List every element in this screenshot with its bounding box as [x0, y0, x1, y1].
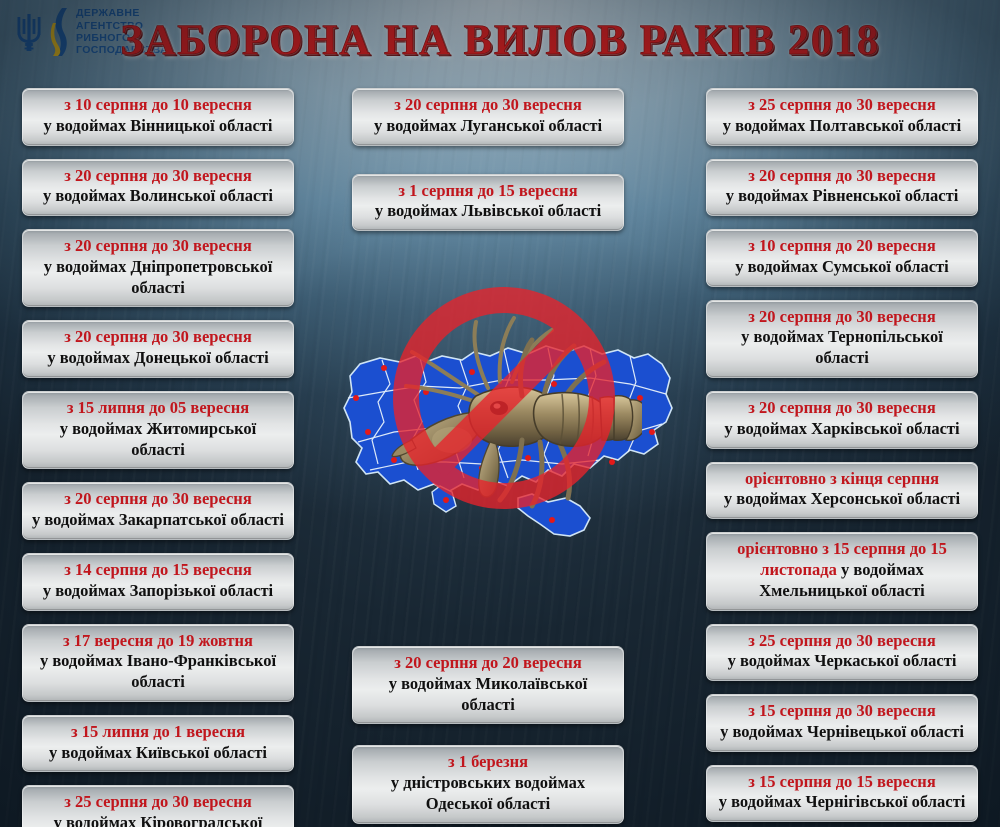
card-dates: з 20 серпня до 20 вересня — [361, 653, 615, 674]
card-dates: з 15 серпня до 30 вересня — [715, 701, 969, 722]
card-place: у водоймах Херсонської області — [715, 489, 969, 510]
region-card: з 20 серпня до 30 вересняу водоймах Рівн… — [706, 159, 978, 217]
card-place: у водоймах Львівської області — [361, 201, 615, 222]
region-card: орієнтовно з кінця серпняу водоймах Херс… — [706, 462, 978, 520]
column-right: з 25 серпня до 30 вересняу водоймах Полт… — [706, 88, 978, 822]
card-dates: з 10 серпня до 20 вересня — [715, 236, 969, 257]
card-place: у водоймах Черкаської області — [715, 651, 969, 672]
card-place: у водоймах Закарпатської області — [31, 510, 285, 531]
card-dates: з 14 серпня до 15 вересня — [31, 560, 285, 581]
card-dates: з 20 серпня до 30 вересня — [31, 166, 285, 187]
card-dates: з 20 серпня до 30 вересня — [715, 166, 969, 187]
region-card: з 15 липня до 05 вересняу водоймах Житом… — [22, 391, 294, 469]
card-dates: з 20 серпня до 30 вересня — [31, 236, 285, 257]
region-card: з 25 серпня до 30 вересняу водоймах Черк… — [706, 624, 978, 682]
region-card: з 10 серпня до 10 вересняу водоймах Вінн… — [22, 88, 294, 146]
card-place: у водоймах Миколаївської області — [361, 674, 615, 716]
infographic-poster: ДЕРЖАВНЕ АГЕНТСТВО РИБНОГО ГОСПОДАРСТВА … — [0, 0, 1000, 827]
card-dates: орієнтовно з кінця серпня — [715, 469, 969, 490]
region-card: з 25 серпня до 30 вересняу водоймах Кіро… — [22, 785, 294, 827]
region-card: з 20 серпня до 30 вересняу водоймах Дніп… — [22, 229, 294, 307]
card-dates: з 1 березня — [361, 752, 615, 773]
card-place: у водоймах Чернівецької області — [715, 722, 969, 743]
card-place: у водоймах Сумської області — [715, 257, 969, 278]
region-card: з 20 серпня до 20 вересняу водоймах Мико… — [352, 646, 624, 724]
region-card: з 25 серпня до 30 вересняу водоймах Полт… — [706, 88, 978, 146]
card-place: у водоймах Київської області — [31, 743, 285, 764]
card-dates: з 25 серпня до 30 вересня — [715, 631, 969, 652]
card-place: у водоймах Рівненської області — [715, 186, 969, 207]
card-place: у водоймах Донецької області — [31, 348, 285, 369]
poster-header: ДЕРЖАВНЕ АГЕНТСТВО РИБНОГО ГОСПОДАРСТВА … — [0, 0, 1000, 80]
region-card: з 15 липня до 1 вересняу водоймах Київсь… — [22, 715, 294, 773]
region-card: з 1 березняу дністровських водоймах Одес… — [352, 745, 624, 823]
card-place: у водоймах Полтавської області — [715, 116, 969, 137]
region-card: з 20 серпня до 30 вересняу водоймах Зака… — [22, 482, 294, 540]
card-dates: з 15 серпня до 15 вересня — [715, 772, 969, 793]
card-place: у водоймах Чернігівської області — [715, 792, 969, 813]
card-dates: з 15 липня до 1 вересня — [31, 722, 285, 743]
column-middle-bottom: з 20 серпня до 20 вересняу водоймах Мико… — [352, 646, 624, 824]
region-card: з 20 серпня до 30 вересняу водоймах Луга… — [352, 88, 624, 146]
card-place: у водоймах Житомирської області — [31, 419, 285, 461]
column-left: з 10 серпня до 10 вересняу водоймах Вінн… — [22, 88, 294, 827]
region-card: з 15 серпня до 30 вересняу водоймах Черн… — [706, 694, 978, 752]
region-card: з 17 вересня до 19 жовтняу водоймах Іван… — [22, 624, 294, 702]
region-card: з 20 серпня до 30 вересняу водоймах Терн… — [706, 300, 978, 378]
card-dates: з 1 серпня до 15 вересня — [361, 181, 615, 202]
card-dates: з 25 серпня до 30 вересня — [715, 95, 969, 116]
central-graphic — [322, 272, 686, 562]
card-place: у водоймах Дніпропетровської області — [31, 257, 285, 299]
card-dates: з 17 вересня до 19 жовтня — [31, 631, 285, 652]
card-place: у дністровських водоймах Одеської област… — [361, 773, 615, 815]
region-card: з 20 серпня до 30 вересняу водоймах Воли… — [22, 159, 294, 217]
card-place: у водоймах Волинської області — [31, 186, 285, 207]
card-dates: з 20 серпня до 30 вересня — [361, 95, 615, 116]
card-dates: з 25 серпня до 30 вересня — [31, 792, 285, 813]
card-place: у водоймах Харківської області — [715, 419, 969, 440]
card-place: у водоймах Вінницької області — [31, 116, 285, 137]
region-card: з 14 серпня до 15 вересняу водоймах Запо… — [22, 553, 294, 611]
card-place: у водоймах Івано-Франківської області — [31, 651, 285, 693]
card-dates: з 20 серпня до 30 вересня — [715, 307, 969, 328]
region-card: з 20 серпня до 30 вересняу водоймах Харк… — [706, 391, 978, 449]
card-place: у водоймах Запорізької області — [31, 581, 285, 602]
column-middle-top: з 20 серпня до 30 вересняу водоймах Луга… — [352, 88, 624, 231]
card-dates: з 20 серпня до 30 вересня — [31, 489, 285, 510]
card-dates: з 20 серпня до 30 вересня — [31, 327, 285, 348]
region-card: з 20 серпня до 30 вересняу водоймах Доне… — [22, 320, 294, 378]
region-card: з 1 серпня до 15 вересняу водоймах Львів… — [352, 174, 624, 232]
card-dates: з 20 серпня до 30 вересня — [715, 398, 969, 419]
card-dates: з 10 серпня до 10 вересня — [31, 95, 285, 116]
prohibition-sign-icon — [390, 284, 618, 512]
region-card: з 15 серпня до 15 вересняу водоймах Черн… — [706, 765, 978, 823]
card-dates: з 15 липня до 05 вересня — [31, 398, 285, 419]
card-place: у водоймах Луганської області — [361, 116, 615, 137]
page-title: ЗАБОРОНА НА ВИЛОВ РАКІВ 2018 — [0, 16, 1000, 65]
card-place: у водоймах Кіровоградської області — [31, 813, 285, 827]
region-card: з 10 серпня до 20 вересняу водоймах Сумс… — [706, 229, 978, 287]
region-card: орієнтовно з 15 серпня до 15 листопада у… — [706, 532, 978, 610]
card-place: у водоймах Тернопільської області — [715, 327, 969, 369]
